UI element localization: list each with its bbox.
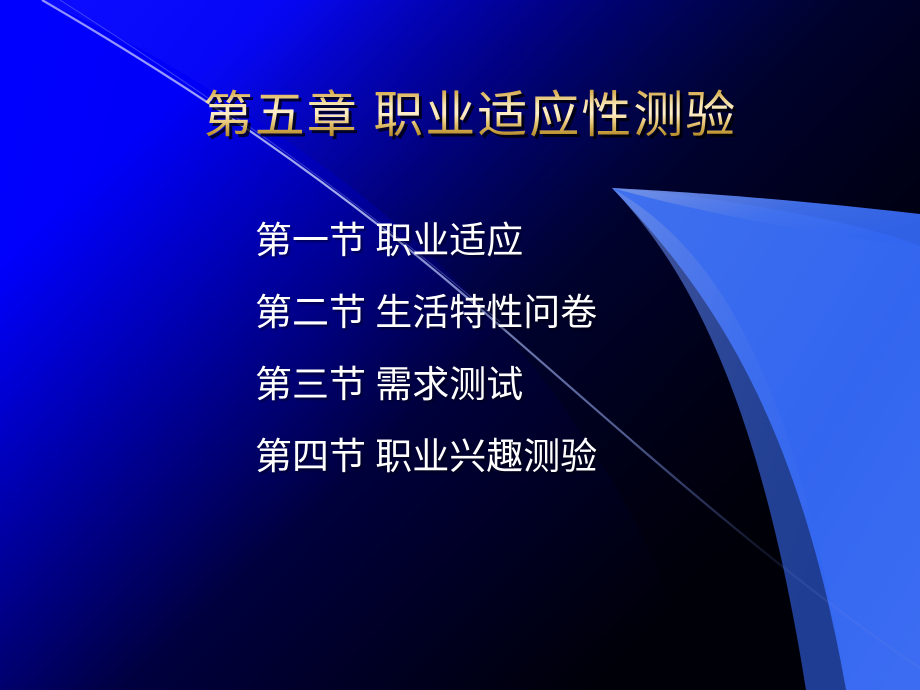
list-item: 第一节 职业适应 <box>255 206 855 278</box>
list-item: 第四节 职业兴趣测验 <box>255 422 855 494</box>
slide-contents-list: 第一节 职业适应 第二节 生活特性问卷 第三节 需求测试 第四节 职业兴趣测验 <box>255 206 855 494</box>
list-item: 第二节 生活特性问卷 <box>255 278 855 350</box>
list-item: 第三节 需求测试 <box>255 350 855 422</box>
presentation-slide: 第五章 职业适应性测验 第一节 职业适应 第二节 生活特性问卷 第三节 需求测试… <box>0 0 920 690</box>
slide-title: 第五章 职业适应性测验 <box>0 84 920 146</box>
